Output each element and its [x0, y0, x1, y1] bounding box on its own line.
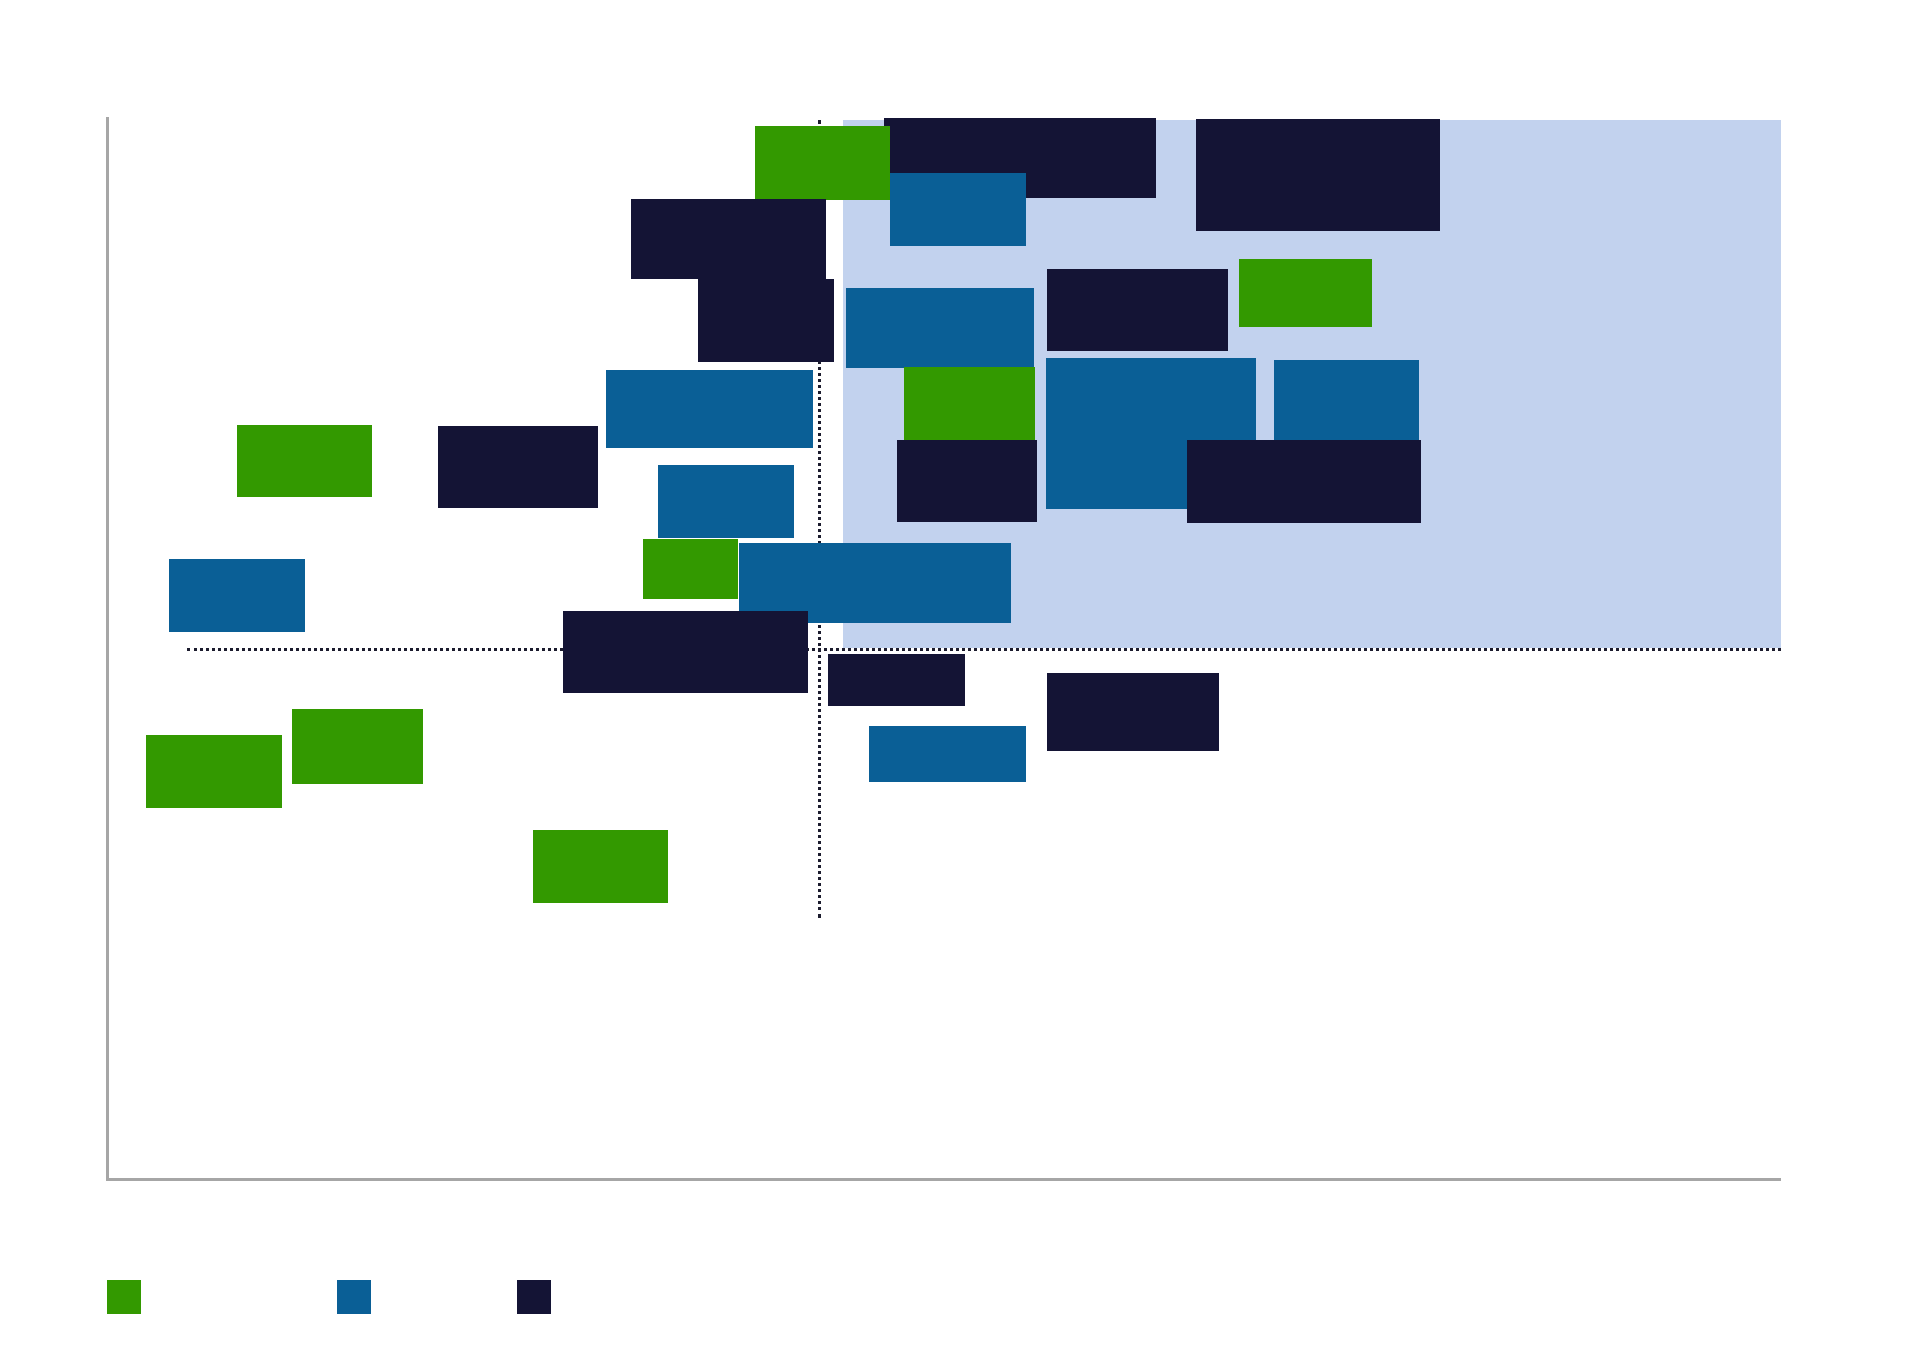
data-rect-n6[interactable] [438, 426, 598, 508]
data-rect-n5[interactable] [1047, 269, 1228, 351]
chart-legend [0, 1240, 1920, 1360]
data-rect-b4[interactable] [1274, 360, 1419, 441]
data-rect-b1[interactable] [890, 173, 1026, 246]
data-rect-g5[interactable] [643, 539, 738, 599]
x-axis-line [106, 1178, 1781, 1181]
data-rect-n7[interactable] [897, 440, 1037, 522]
data-rect-g8[interactable] [533, 830, 668, 903]
plot-area [106, 117, 1781, 1181]
data-rect-b6[interactable] [1046, 431, 1192, 509]
y-axis-line [106, 117, 109, 1181]
data-rect-b10[interactable] [869, 726, 1026, 782]
data-rect-n3[interactable] [631, 199, 826, 279]
data-rect-g4[interactable] [237, 425, 372, 497]
chart-root [0, 0, 1920, 1363]
legend-swatch-series-green [107, 1280, 141, 1314]
data-rect-g2[interactable] [1239, 259, 1372, 327]
data-rect-g3[interactable] [904, 367, 1035, 440]
data-rect-n10[interactable] [828, 654, 965, 706]
legend-swatch-series-navy [517, 1280, 551, 1314]
data-rect-b2[interactable] [846, 288, 1034, 368]
data-rect-b3[interactable] [1046, 358, 1256, 441]
data-rect-n2[interactable] [1196, 119, 1440, 231]
data-rect-b7[interactable] [658, 465, 794, 538]
data-rect-n11[interactable] [1047, 673, 1219, 751]
data-rect-n8[interactable] [1187, 440, 1421, 523]
data-rect-g6[interactable] [292, 709, 423, 784]
legend-item-series-navy[interactable] [517, 1280, 565, 1314]
legend-swatch-series-blue [337, 1280, 371, 1314]
legend-item-series-blue[interactable] [337, 1280, 385, 1314]
data-rect-n9[interactable] [563, 611, 808, 693]
data-rect-g7[interactable] [146, 735, 282, 808]
horizontal-threshold [187, 648, 1781, 651]
legend-item-series-green[interactable] [107, 1280, 155, 1314]
data-rect-b5[interactable] [606, 370, 813, 448]
data-rect-g1[interactable] [755, 126, 890, 200]
data-rect-b9[interactable] [169, 559, 305, 632]
data-rect-n4[interactable] [698, 279, 834, 362]
